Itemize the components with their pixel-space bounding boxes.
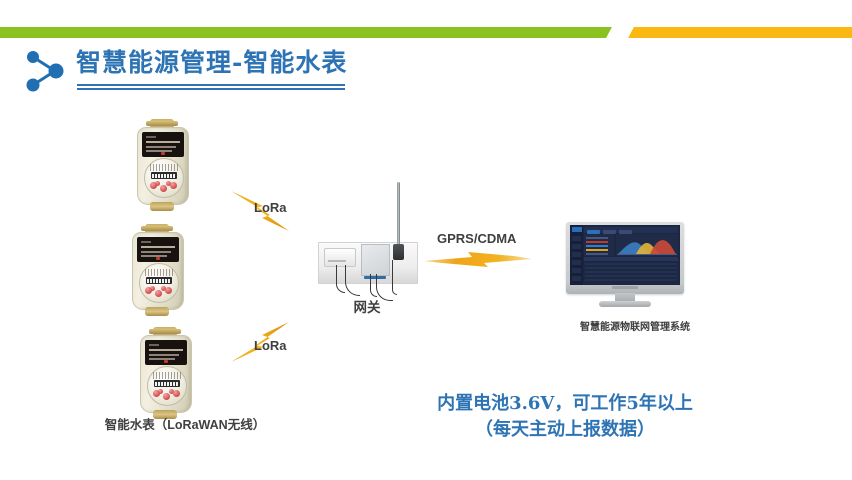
header-accent-bar [0,27,852,38]
dashboard-sidebar [570,225,583,285]
monitor-bezel [566,222,684,294]
battery-note-line-1: 内置电池3.6V，可工作5年以上 [400,391,730,417]
meter-housing [140,335,192,413]
meter-dial-face [147,366,187,406]
dashboard-area-chart [616,234,678,256]
dashboard-legend-panel [584,234,614,256]
dashboard-data-table [584,257,678,284]
gateway-main-unit [361,244,390,276]
management-system-caption: 智慧能源物联网管理系统 [545,318,725,333]
title-underline-lower [77,88,345,90]
battery-note-line-2: （每天主动上报数据） [400,417,730,443]
gateway-cable [345,265,360,296]
meter-housing [137,127,189,205]
smart-water-meter-icon [126,224,188,316]
monitor-screen [570,225,680,285]
table-header-row [584,257,678,261]
meter-dial-face [139,263,179,303]
meter-lcd-display [145,340,187,365]
header-bar-orange-segment [612,27,852,38]
header-bar-green-segment [0,27,627,38]
dashboard-toolbar [584,227,678,233]
meter-dial-face [144,158,184,198]
meter-outlet-fitting [150,202,174,211]
smart-water-meter-icon [131,119,193,211]
meter-register-digits [146,277,172,284]
meter-housing [132,232,184,310]
title-underline-upper [77,84,345,86]
share-nodes-icon [22,48,74,94]
meter-register-digits [154,380,180,387]
gateway-antenna-icon [312,182,422,300]
cellular-link-label: GPRS/CDMA [437,231,516,246]
water-meters-caption: 智能水表（LoRaWAN无线） [60,414,310,433]
smart-water-meter-icon [134,327,196,419]
gateway-antenna-mount [393,244,404,260]
meter-lcd-display [137,237,179,262]
gateway-caption: 网关 [312,296,422,316]
gateway-cable [392,260,397,295]
meter-lcd-display [142,132,184,157]
meter-outlet-fitting [145,307,169,316]
battery-note: 内置电池3.6V，可工作5年以上 （每天主动上报数据） [400,391,730,443]
dashboard-logo [572,227,582,232]
desktop-monitor-icon [566,222,684,308]
monitor-brand-strip [612,286,638,289]
page-title: 智慧能源管理-智能水表 [76,50,347,76]
lora-link-label-top: LoRa [254,200,287,215]
gateway-cable [336,265,345,293]
lightning-bolt-icon [424,248,532,270]
meter-register-digits [151,172,177,179]
monitor-stand-base [599,301,651,307]
lora-link-label-bottom: LoRa [254,338,287,353]
